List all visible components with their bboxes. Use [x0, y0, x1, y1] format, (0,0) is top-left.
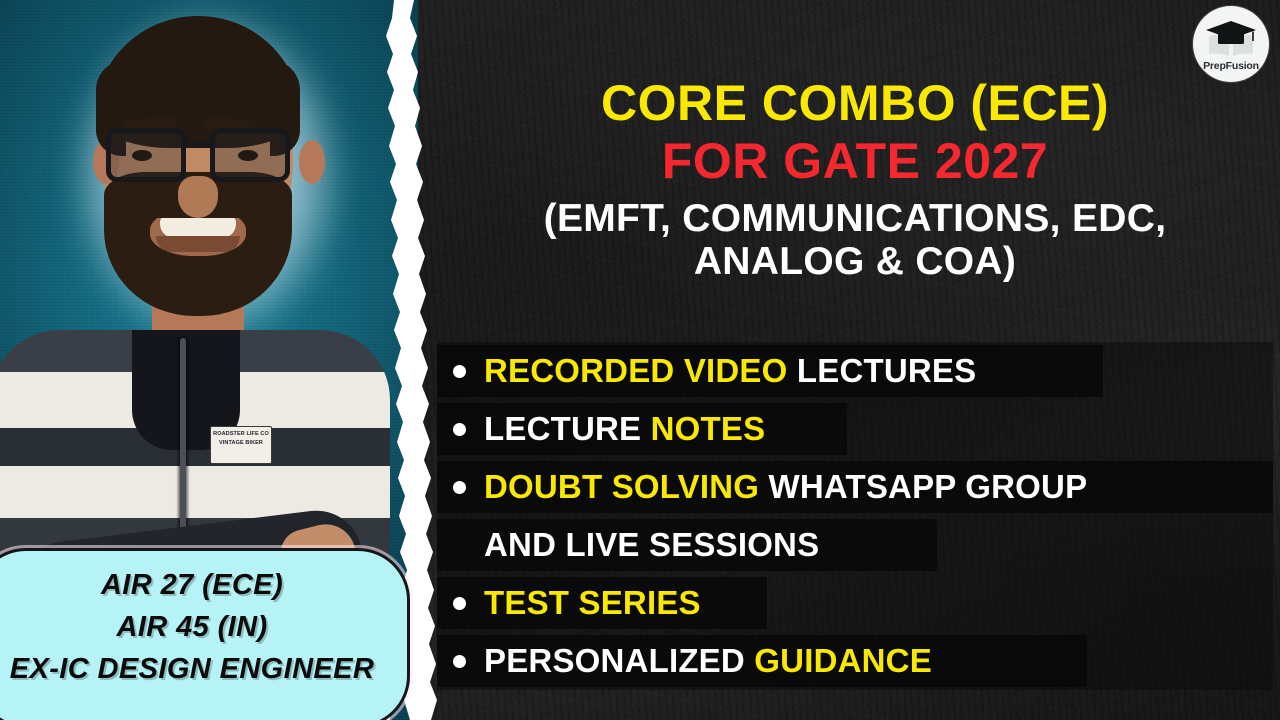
brand-logo[interactable]: PrepFusion — [1193, 6, 1269, 82]
bullet-dot-icon — [453, 597, 466, 610]
feature-label-accent: RECORDED VIDEO — [484, 352, 788, 389]
glasses-lens-right — [210, 128, 290, 182]
headline-line-3: (EMFT, COMMUNICATIONS, EDC, — [440, 199, 1270, 238]
jacket-brand-patch: ROADSTER LIFE CO VINTAGE BIKER — [210, 426, 272, 464]
feature-list: RECORDED VIDEO LECTURESLECTURE NOTESDOUB… — [437, 342, 1273, 690]
feature-label-accent: DOUBT SOLVING — [484, 468, 759, 505]
bullet-dot-icon — [453, 365, 466, 378]
feature-label-accent: NOTES — [651, 410, 766, 447]
credential-line-2: AIR 45 (IN) — [0, 607, 407, 649]
feature-item: AND LIVE SESSIONS — [437, 516, 1273, 574]
patch-line-1: ROADSTER LIFE CO — [213, 431, 269, 437]
feature-label: AND LIVE SESSIONS — [484, 526, 819, 564]
headline-line-1: CORE COMBO (ECE) — [440, 78, 1270, 128]
glasses-lens-left — [106, 128, 186, 182]
headline-line-2: FOR GATE 2027 — [440, 136, 1270, 186]
feature-label: RECORDED VIDEO LECTURES — [484, 352, 976, 390]
feature-label-plain: PERSONALIZED — [484, 642, 754, 679]
feature-item: TEST SERIES — [437, 574, 1273, 632]
feature-item: PERSONALIZED GUIDANCE — [437, 632, 1273, 690]
subject-teeth — [160, 216, 236, 238]
brand-logo-text: PrepFusion — [1203, 60, 1259, 72]
feature-label: DOUBT SOLVING WHATSAPP GROUP — [484, 468, 1087, 506]
feature-label-plain: WHATSAPP GROUP — [759, 468, 1087, 505]
feature-label-accent: TEST SERIES — [484, 584, 701, 621]
credential-line-1: AIR 27 (ECE) — [0, 565, 407, 607]
feature-item: DOUBT SOLVING WHATSAPP GROUP — [437, 458, 1273, 516]
feature-label: PERSONALIZED GUIDANCE — [484, 642, 932, 680]
feature-label-plain: AND LIVE SESSIONS — [484, 526, 819, 563]
graduation-cap-book-icon — [1203, 19, 1259, 59]
subject-lower-lip — [156, 236, 240, 252]
feature-label: LECTURE NOTES — [484, 410, 765, 448]
subject-glasses — [104, 128, 292, 184]
feature-item: LECTURE NOTES — [437, 400, 1273, 458]
feature-label: TEST SERIES — [484, 584, 701, 622]
feature-label-plain: LECTURE — [484, 410, 651, 447]
credentials-badge: AIR 27 (ECE) AIR 45 (IN) EX-IC DESIGN EN… — [0, 548, 410, 720]
bullet-dot-icon — [453, 481, 466, 494]
feature-label-plain: LECTURES — [788, 352, 977, 389]
feature-label-accent: GUIDANCE — [754, 642, 932, 679]
headline-line-4: ANALOG & COA) — [440, 242, 1270, 281]
promo-banner: ROADSTER LIFE CO VINTAGE BIKER CORE COMB… — [0, 0, 1280, 720]
headline-block: CORE COMBO (ECE) FOR GATE 2027 (EMFT, CO… — [440, 78, 1270, 281]
subject-ear-right — [299, 140, 325, 184]
glasses-bridge — [186, 142, 212, 147]
bullet-dot-icon — [453, 423, 466, 436]
feature-item: RECORDED VIDEO LECTURES — [437, 342, 1273, 400]
bullet-dot-icon — [453, 655, 466, 668]
credential-line-3: EX-IC DESIGN ENGINEER — [0, 649, 407, 691]
patch-line-2: VINTAGE BIKER — [219, 440, 263, 446]
